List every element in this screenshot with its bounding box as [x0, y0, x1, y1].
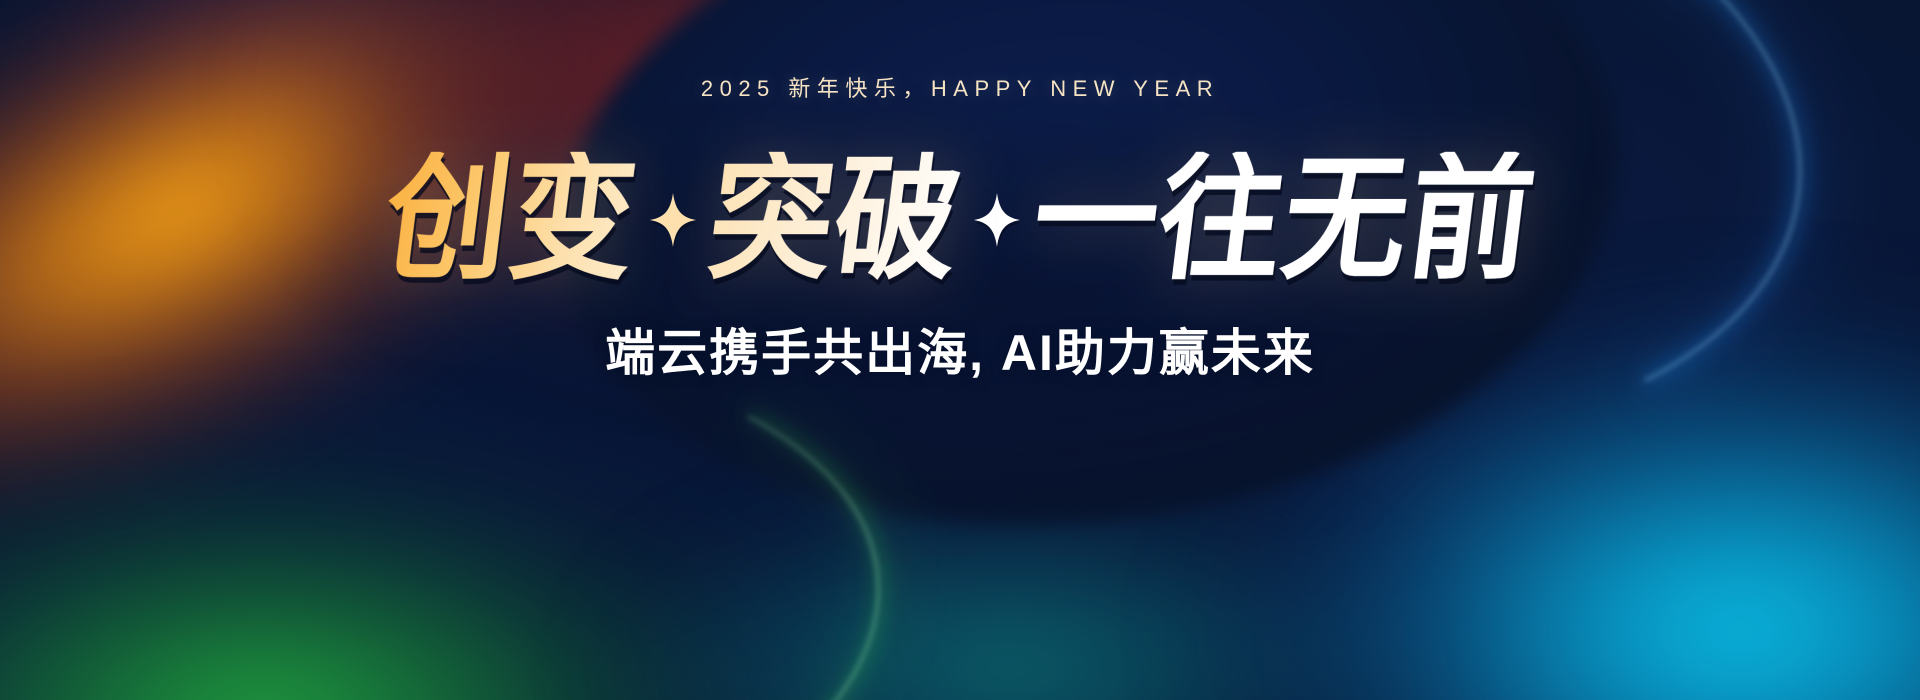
banner-headline: 创变 突破 一往无前	[386, 158, 1534, 282]
headline-segment-3: 一往无前	[1026, 152, 1543, 288]
banner-subtitle: 端云携手共出海, AI助力赢未来	[605, 328, 1315, 378]
headline-segment-1: 创变	[378, 152, 645, 288]
banner-tagline: 2025 新年快乐，HAPPY NEW YEAR	[701, 78, 1219, 100]
banner-content: 2025 新年快乐，HAPPY NEW YEAR 创变 突破 一往无前 端云携手…	[0, 0, 1920, 700]
new-year-campaign-banner: 2025 新年快乐，HAPPY NEW YEAR 创变 突破 一往无前 端云携手…	[0, 0, 1920, 700]
headline-segment-2: 突破	[702, 152, 969, 288]
sparkle-icon	[650, 193, 696, 247]
sparkle-icon	[974, 193, 1020, 247]
